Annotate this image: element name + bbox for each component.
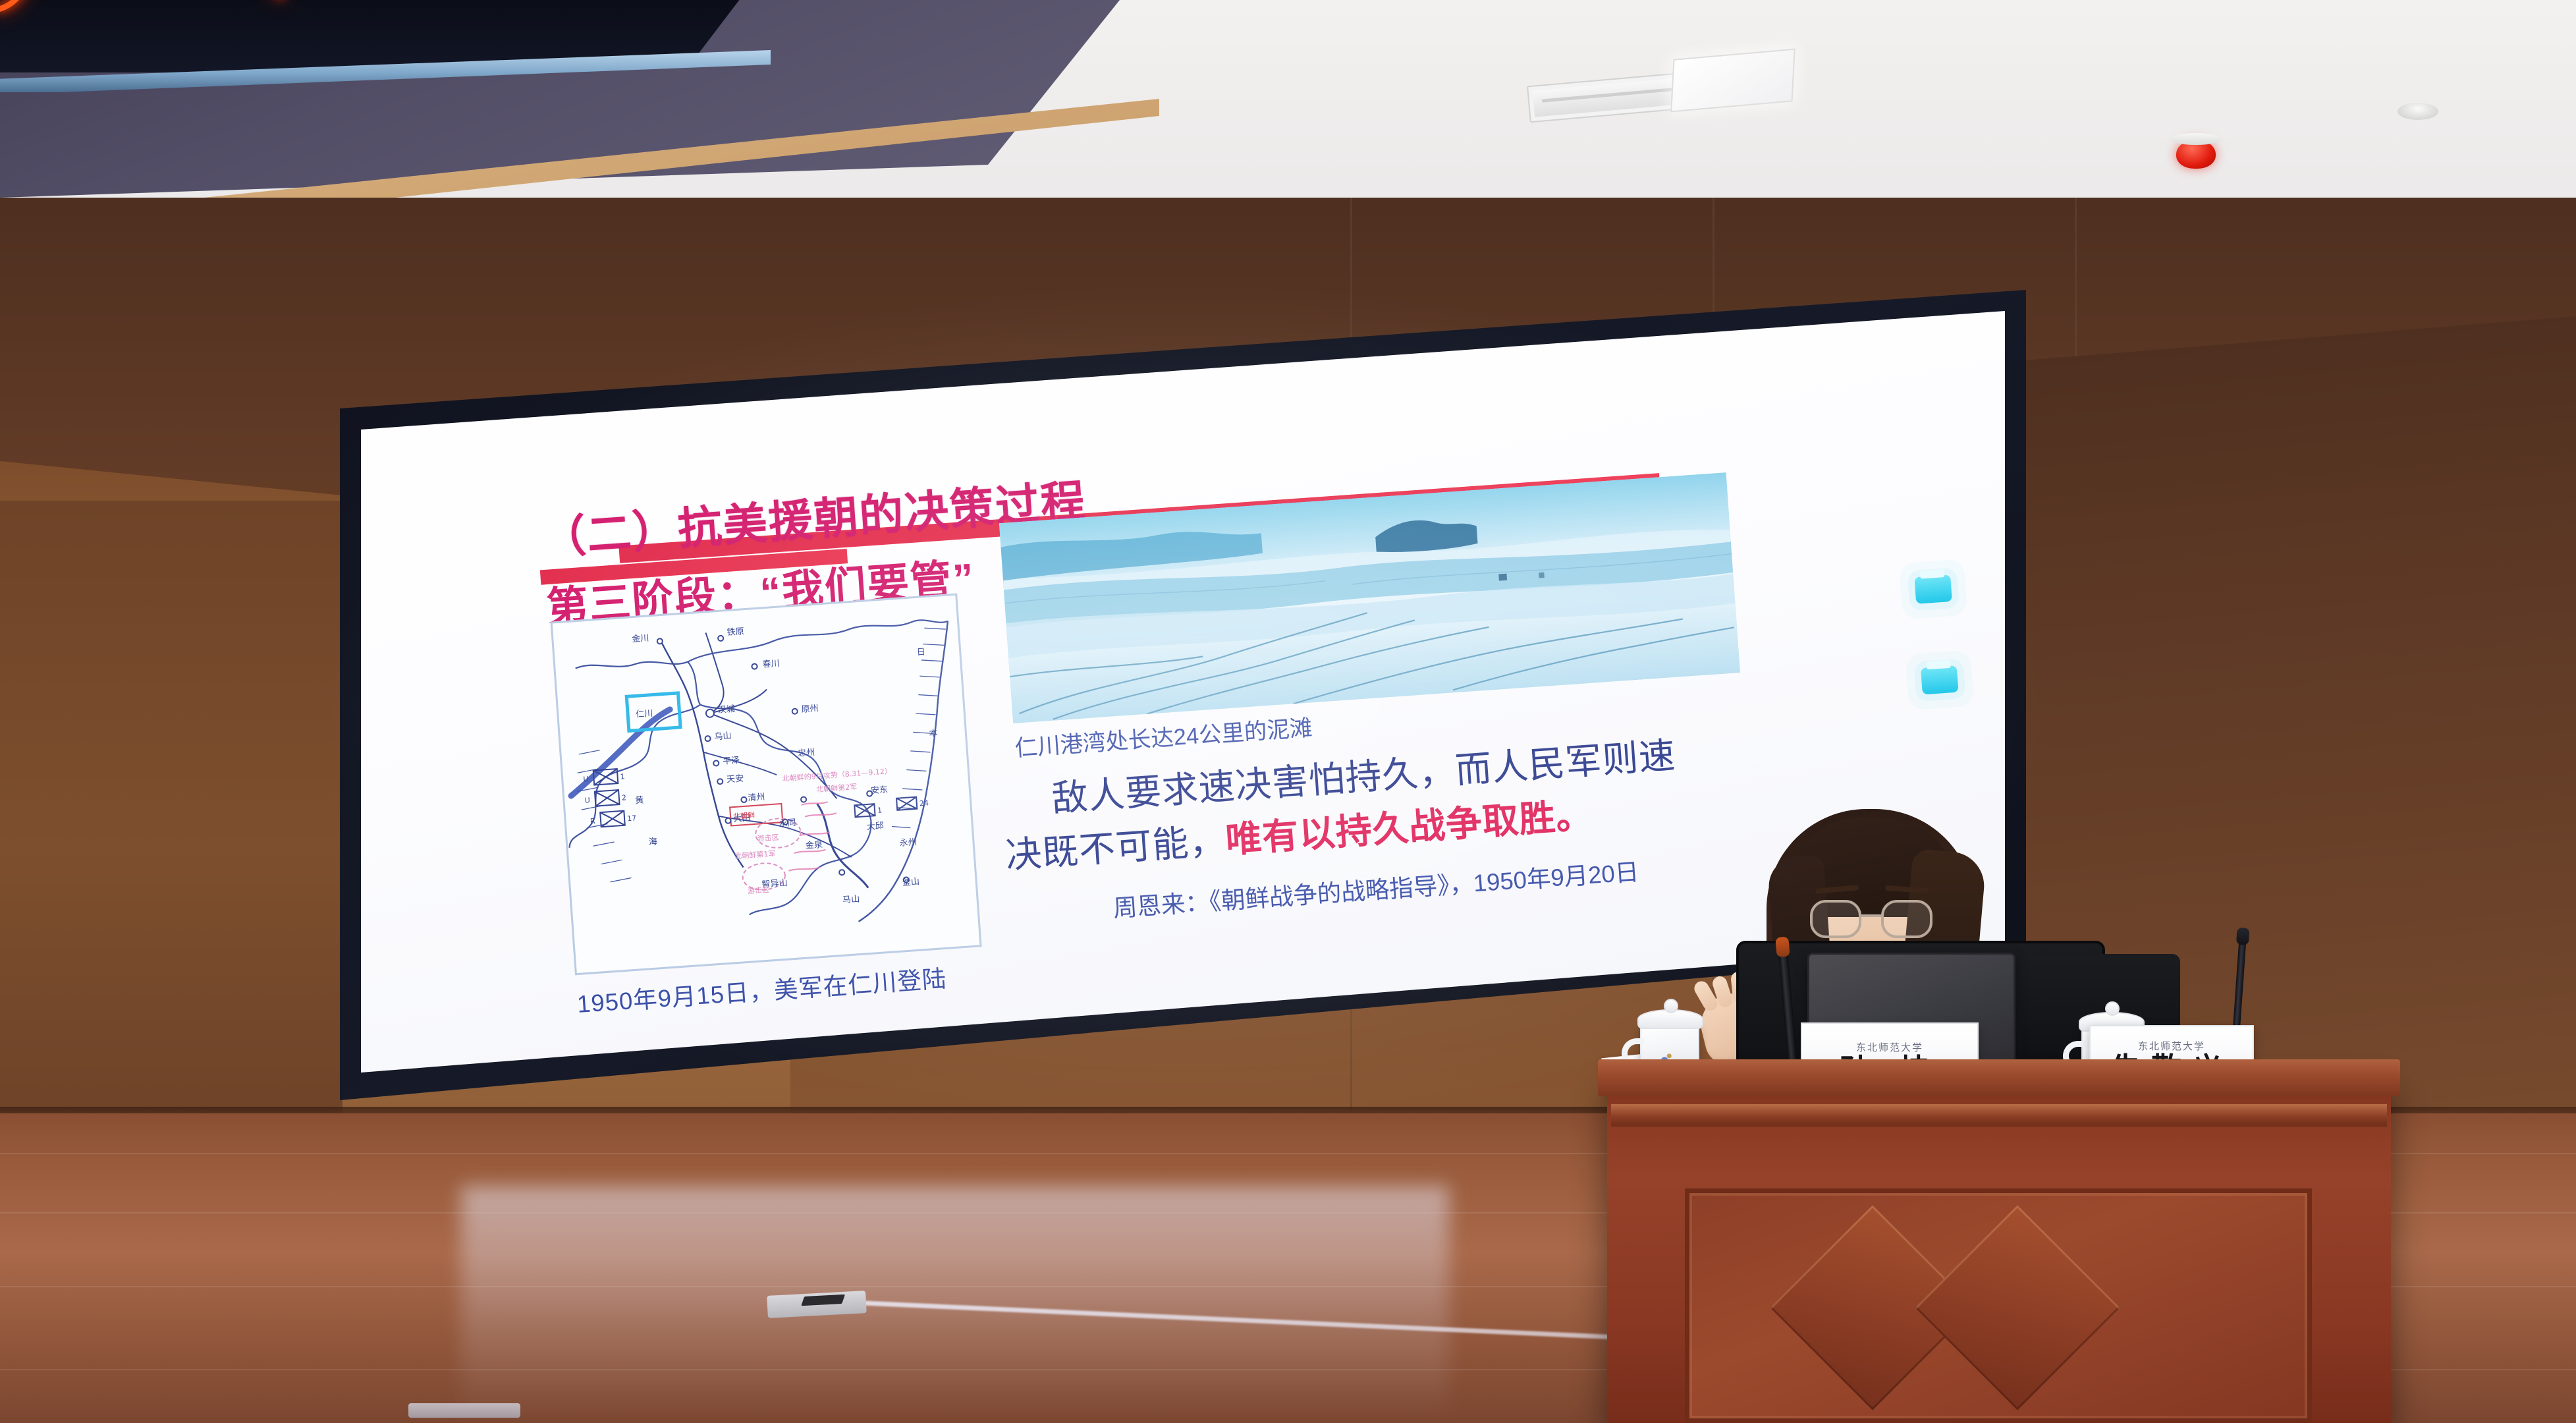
svg-text:2: 2 xyxy=(621,793,626,802)
podium-top-surface xyxy=(1598,1059,2400,1096)
svg-text:本: 本 xyxy=(929,729,938,739)
korea-war-map: 金川 铁原 春川 汉城 原州 乌山 平泽 天安 忠州 清州 大田 永同 xyxy=(550,594,981,976)
floor-object xyxy=(408,1403,520,1418)
svg-text:U: U xyxy=(583,775,589,784)
fire-alarm-strobe xyxy=(2176,140,2216,169)
podium-molding xyxy=(1611,1104,2387,1127)
svg-text:安东: 安东 xyxy=(870,785,888,796)
svg-text:北朝鲜第2军: 北朝鲜第2军 xyxy=(816,782,858,794)
svg-text:游击区: 游击区 xyxy=(748,885,770,895)
svg-text:大邱: 大邱 xyxy=(866,821,884,832)
svg-text:17: 17 xyxy=(627,814,637,823)
svg-text:金泉: 金泉 xyxy=(805,839,823,851)
mudflat-photo-art xyxy=(999,472,1740,723)
svg-text:北朝鲜: 北朝鲜 xyxy=(733,810,755,821)
svg-text:24: 24 xyxy=(919,798,929,808)
svg-text:汉城: 汉城 xyxy=(717,704,735,715)
svg-text:清州: 清州 xyxy=(748,793,765,804)
svg-text:原州: 原州 xyxy=(801,704,819,715)
svg-text:铁原: 铁原 xyxy=(726,627,744,638)
svg-text:黄: 黄 xyxy=(635,796,644,806)
svg-text:永州: 永州 xyxy=(899,837,917,849)
svg-text:忠州: 忠州 xyxy=(798,748,815,759)
lens-left xyxy=(1810,900,1861,938)
svg-text:U: U xyxy=(584,796,590,805)
svg-text:R: R xyxy=(590,817,596,826)
svg-text:金川: 金川 xyxy=(632,633,649,645)
incheon-mudflat-photo xyxy=(999,472,1740,723)
svg-text:马山: 马山 xyxy=(842,895,860,906)
svg-text:海: 海 xyxy=(648,837,657,847)
quote-line-2-plain: 决既不可能， xyxy=(1004,821,1227,876)
svg-text:天安: 天安 xyxy=(726,774,744,785)
name-card-org: 东北师范大学 xyxy=(1856,1040,1923,1054)
left-far-wall xyxy=(0,501,343,1192)
svg-text:永同: 永同 xyxy=(779,818,796,829)
podium-diamond-right xyxy=(1915,1205,2120,1410)
svg-text:春川: 春川 xyxy=(762,659,780,670)
lecture-hall-scene: ノ ヽ （二）抗美援朝的决策过程 第三阶段：“我们要管” xyxy=(0,0,2576,1423)
capsule-icon xyxy=(1921,665,1959,694)
svg-text:北朝鲜的9月攻势（8.31—9.12）: 北朝鲜的9月攻势（8.31—9.12） xyxy=(782,766,892,783)
svg-text:釜山: 釜山 xyxy=(902,877,920,888)
svg-text:1: 1 xyxy=(877,806,883,814)
map-illustration: 金川 铁原 春川 汉城 原州 乌山 平泽 天安 忠州 清州 大田 永同 xyxy=(553,596,980,973)
teacup-knob xyxy=(1664,999,1678,1013)
lens-right xyxy=(1881,900,1932,938)
svg-text:1: 1 xyxy=(620,772,625,781)
podium-front-panel xyxy=(1685,1188,2312,1423)
panel-light xyxy=(1670,49,1795,113)
name-card-org: 东北师范大学 xyxy=(2138,1039,2205,1053)
eyeglasses xyxy=(1810,900,1935,938)
svg-text:平泽: 平泽 xyxy=(723,756,740,767)
teacup-knob xyxy=(2105,1001,2120,1016)
podium xyxy=(1607,1075,2391,1423)
smoke-detector xyxy=(2398,103,2438,120)
svg-text:游击区: 游击区 xyxy=(757,833,779,843)
led-banner-glyph-left: ノ xyxy=(0,0,40,22)
svg-text:乌山: 乌山 xyxy=(714,731,732,742)
glasses-bridge xyxy=(1861,914,1882,917)
led-banner-glyph-right: ヽ xyxy=(248,0,299,12)
svg-text:日: 日 xyxy=(916,647,925,657)
svg-text:北朝鲜第1军: 北朝鲜第1军 xyxy=(734,849,776,860)
svg-text:仁川: 仁川 xyxy=(636,709,653,720)
capsule-icon xyxy=(1914,574,1952,603)
